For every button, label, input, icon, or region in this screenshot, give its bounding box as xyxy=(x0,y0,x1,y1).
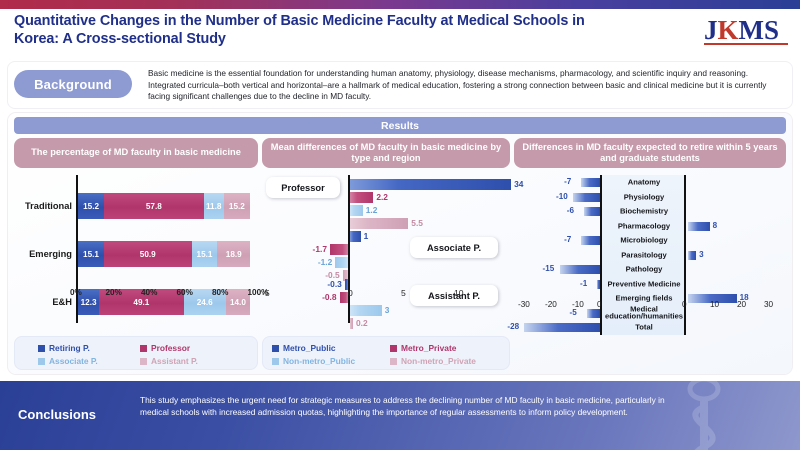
chart2-bar xyxy=(350,218,408,229)
chart2-value-label: 1 xyxy=(364,231,369,242)
chart3-category-label: Microbiology xyxy=(602,236,686,243)
chart3-tick-label-left: -20 xyxy=(545,300,557,309)
chart2-tick-label: -5 xyxy=(262,288,270,298)
chart1-segment: 15.1 xyxy=(78,241,104,267)
chart3-value-label: -15 xyxy=(543,264,555,273)
legend-label: Metro_Public xyxy=(283,343,336,353)
chart3-row: Total-28 xyxy=(514,320,786,334)
legend-swatch-icon xyxy=(38,345,45,352)
legend-label: Metro_Private xyxy=(401,343,456,353)
chart3-bar xyxy=(560,265,601,274)
chart1-segment: 57.8 xyxy=(104,193,203,219)
logo-letter-k: K xyxy=(718,15,739,45)
conclusions-label: Conclusions xyxy=(18,407,138,422)
chart3-bar xyxy=(581,178,600,187)
chart1-segment: 15.2 xyxy=(224,193,250,219)
chart2-value-label: 3 xyxy=(385,305,390,316)
panel-2-title: Mean differences of MD faculty in basic … xyxy=(262,138,510,168)
chart1-segment: 11.8 xyxy=(204,193,224,219)
chart3-row: Pharmacology8 xyxy=(514,219,786,233)
chart3-category-label: Anatomy xyxy=(602,178,686,185)
panel-retire-graduate: Differences in MD faculty expected to re… xyxy=(514,138,786,370)
conclusions-text: This study emphasizes the urgent need fo… xyxy=(140,394,680,419)
chart3-category-label: Total xyxy=(602,323,686,330)
chart3-row: Anatomy-7 xyxy=(514,175,786,189)
chart2-value-label: 5.5 xyxy=(411,218,423,229)
chart3-bar xyxy=(581,236,600,245)
chart3-row: Preventive Medicine-1 xyxy=(514,277,786,291)
chart-stacked-percentage: Traditional15.257.811.815.2Emerging15.15… xyxy=(14,175,258,335)
legend-region-type: Metro_PublicMetro_PrivateNon-metro_Publi… xyxy=(262,336,510,370)
chart3-value-label: -28 xyxy=(507,322,519,331)
logo-letters-ms: MS xyxy=(739,15,780,45)
legend-swatch-icon xyxy=(390,345,397,352)
chart3-row: Parasitology3 xyxy=(514,248,786,262)
chart3-value-label: -7 xyxy=(564,177,571,186)
legend-item-region[interactable]: Non-metro_Public xyxy=(272,356,355,366)
chart2-bar xyxy=(335,257,348,268)
chart1-segment: 50.9 xyxy=(104,241,192,267)
chart3-bar xyxy=(573,193,600,202)
chart1-tick-label: 20% xyxy=(106,288,122,297)
chart3-tick-label-right: 30 xyxy=(764,300,773,309)
chart1-stacked-bar: 15.257.811.815.2 xyxy=(78,193,250,219)
legend-label: Assistant P. xyxy=(151,356,198,366)
jkms-logo: JKMS xyxy=(704,15,788,45)
chart2-value-label: 2.2 xyxy=(376,192,388,203)
chart1-tick-label: 40% xyxy=(141,288,157,297)
chart2-value-label: -1.7 xyxy=(313,244,327,255)
chart3-tick-label-right: 0 xyxy=(682,300,687,309)
chart3-tick-label-left: 0 xyxy=(597,300,602,309)
chart3-bar xyxy=(688,251,696,260)
chart3-value-label: -10 xyxy=(556,192,568,201)
chart1-segment: 15.1 xyxy=(192,241,218,267)
chart1-segment: 18.9 xyxy=(217,241,250,267)
chart3-category-label: Preventive Medicine xyxy=(602,280,686,287)
legend-swatch-icon xyxy=(390,358,397,365)
panel-3-title: Differences in MD faculty expected to re… xyxy=(514,138,786,168)
chart-retire-graduate: Anatomy-7Physiology-10Biochemistry-6Phar… xyxy=(514,175,786,351)
panel-1-title: The percentage of MD faculty in basic me… xyxy=(14,138,258,168)
chart2-value-label: 0.2 xyxy=(356,318,368,329)
legend-faculty-rank: Retiring P.ProfessorAssociate P.Assistan… xyxy=(14,336,258,370)
chart2-bar xyxy=(330,244,348,255)
chart3-x-ticks: -30-20-1000102030 xyxy=(514,300,786,312)
legend-item-rank[interactable]: Assistant P. xyxy=(140,356,198,366)
chart3-bar xyxy=(584,207,600,216)
chart2-bar xyxy=(350,318,353,329)
legend-item-rank[interactable]: Retiring P. xyxy=(38,343,90,353)
chart3-bar xyxy=(597,280,600,289)
logo-letter-j: J xyxy=(704,15,718,45)
chart3-row: Biochemistry-6 xyxy=(514,204,786,218)
chart3-category-label: Pharmacology xyxy=(602,222,686,229)
chart3-bar xyxy=(524,323,600,332)
legend-item-rank[interactable]: Associate P. xyxy=(38,356,98,366)
chart2-bar xyxy=(350,305,382,316)
chart2-value-label: -1.2 xyxy=(318,257,332,268)
chart3-value-label: -7 xyxy=(564,235,571,244)
legend-label: Non-metro_Private xyxy=(401,356,476,366)
chart2-value-label: 1.2 xyxy=(366,205,378,216)
background-label: Background xyxy=(14,70,132,98)
chart2-x-ticks: -50510 xyxy=(262,288,510,300)
chart3-tick-label-right: 10 xyxy=(710,300,719,309)
chart2-bar xyxy=(350,231,361,242)
chart3-value-label: -6 xyxy=(567,206,574,215)
chart2-bar xyxy=(350,179,511,190)
chart3-row: Physiology-10 xyxy=(514,190,786,204)
legend-swatch-icon xyxy=(140,358,147,365)
chart2-bar xyxy=(350,205,363,216)
chart2-tick-label: 0 xyxy=(348,288,353,298)
chart3-row: Microbiology-7 xyxy=(514,233,786,247)
chart3-tick-label-left: -30 xyxy=(518,300,530,309)
legend-item-region[interactable]: Metro_Private xyxy=(390,343,456,353)
chart1-tick-label: 60% xyxy=(177,288,193,297)
legend-swatch-icon xyxy=(272,345,279,352)
legend-label: Retiring P. xyxy=(49,343,90,353)
legend-label: Professor xyxy=(151,343,190,353)
chart3-value-label: 3 xyxy=(699,250,704,259)
top-accent-strip xyxy=(0,0,800,9)
chart3-value-label: -1 xyxy=(580,279,587,288)
chart1-row-label: Emerging xyxy=(14,249,72,259)
chart1-tick-label: 80% xyxy=(212,288,228,297)
chart2-tick-label: 10 xyxy=(454,288,464,298)
chart3-category-label: Parasitology xyxy=(602,251,686,258)
chart3-bar xyxy=(688,222,710,231)
chart2-bar xyxy=(350,192,373,203)
legend-label: Associate P. xyxy=(49,356,98,366)
legend-swatch-icon xyxy=(140,345,147,352)
chart1-tick-label: 0% xyxy=(70,288,82,297)
chart3-tick-label-right: 20 xyxy=(737,300,746,309)
legend-label: Non-metro_Public xyxy=(283,356,355,366)
chart1-row-label: Traditional xyxy=(14,201,72,211)
legend-item-region[interactable]: Metro_Public xyxy=(272,343,336,353)
chart3-category-label: Biochemistry xyxy=(602,207,686,214)
conclusions-band: Conclusions This study emphasizes the ur… xyxy=(0,381,800,450)
chart1-segment: 15.2 xyxy=(78,193,104,219)
infographic-poster: Quantitative Changes in the Number of Ba… xyxy=(0,0,800,450)
results-label: Results xyxy=(14,117,786,134)
chart1-x-ticks: 0%20%40%60%80%100% xyxy=(48,288,258,300)
chart3-row: Pathology-15 xyxy=(514,262,786,276)
legend-swatch-icon xyxy=(38,358,45,365)
chart1-stacked-bar: 15.150.915.118.9 xyxy=(78,241,250,267)
chart3-category-label: Physiology xyxy=(602,193,686,200)
poster-header: Quantitative Changes in the Number of Ba… xyxy=(0,9,800,57)
chart3-value-label: 8 xyxy=(713,221,718,230)
page-title: Quantitative Changes in the Number of Ba… xyxy=(14,12,614,48)
chart2-tick-label: 5 xyxy=(401,288,406,298)
chart2-group-callout: Associate P. xyxy=(410,237,498,258)
chart3-category-label: Pathology xyxy=(602,265,686,272)
chart3-tick-label-left: -10 xyxy=(572,300,584,309)
chart-mean-differences: 342.21.25.51-1.7-1.2-0.5-0.3-0.830.2Prof… xyxy=(262,175,510,335)
legend-swatch-icon xyxy=(272,358,279,365)
chart2-group-callout: Professor xyxy=(266,177,340,198)
legend-item-rank[interactable]: Professor xyxy=(140,343,190,353)
legend-item-region[interactable]: Non-metro_Private xyxy=(390,356,476,366)
background-text: Basic medicine is the essential foundati… xyxy=(148,68,784,103)
